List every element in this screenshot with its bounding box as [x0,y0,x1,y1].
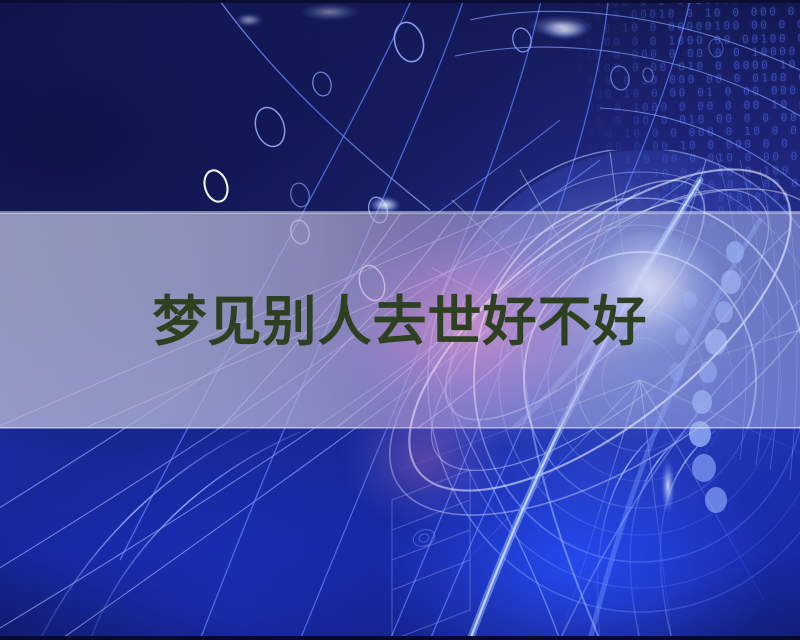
banner-image: 0 10 0 00 1 0 00100010 0 0 00 0000 10 0 … [0,0,800,640]
frame-top-edge [0,0,800,3]
title-container: 梦见别人去世好不好 [0,213,800,428]
page-title: 梦见别人去世好不好 [153,295,648,349]
frame-bottom-edge [0,636,800,640]
